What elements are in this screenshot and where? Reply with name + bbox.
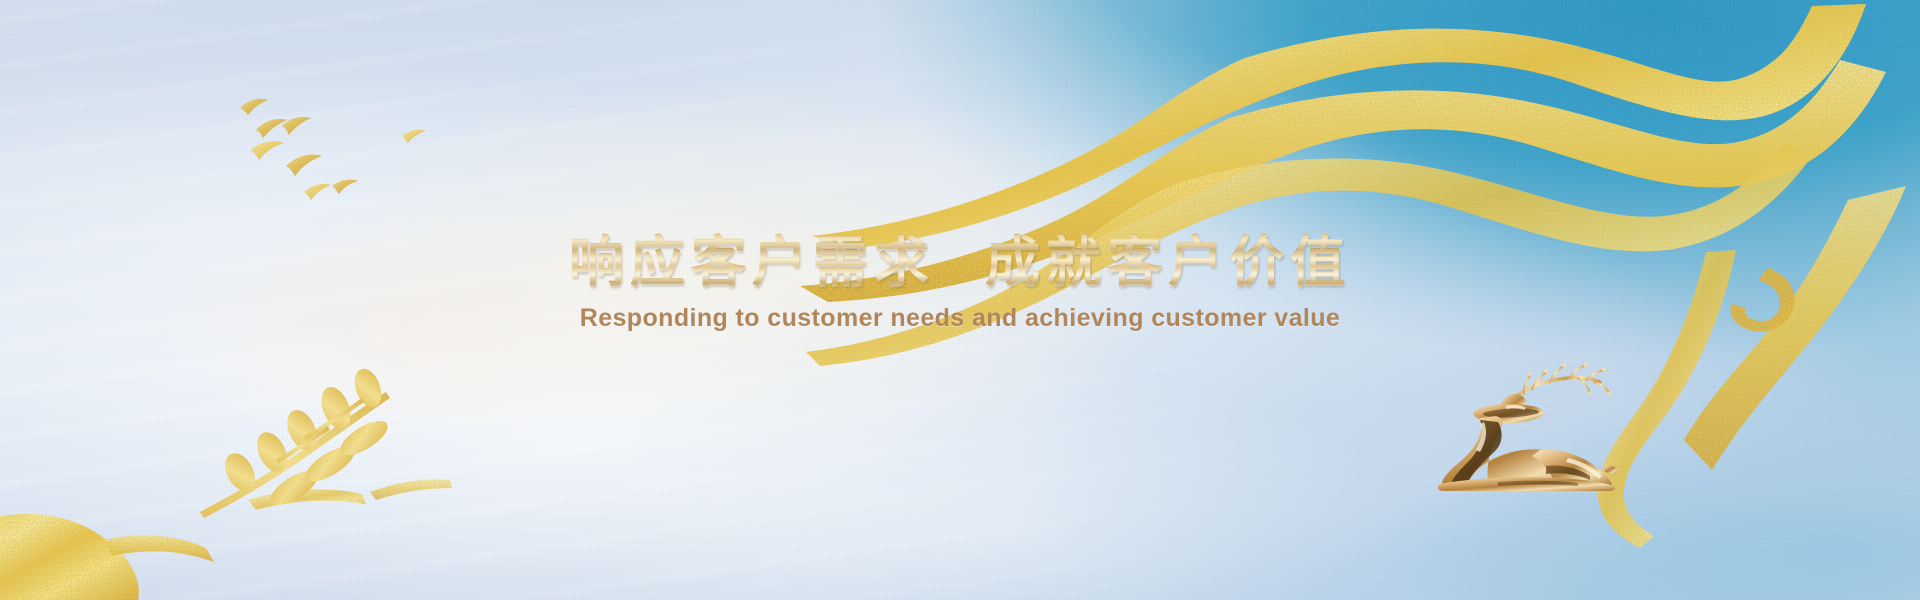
hero-banner: 响应客户需求 成就客户价值 响应客户需求 成就客户价值 Responding t… [0, 0, 1920, 600]
page-subtitle: Responding to customer needs and achievi… [0, 304, 1920, 333]
headline-wrapper: 响应客户需求 成就客户价值 响应客户需求 成就客户价值 [569, 232, 1351, 291]
banner-text-block: 响应客户需求 成就客户价值 响应客户需求 成就客户价值 Responding t… [0, 232, 1920, 333]
gold-leaf-branch-icon [196, 368, 406, 518]
page-title: 响应客户需求 成就客户价值 [569, 232, 1351, 291]
flying-birds-icon [238, 88, 428, 228]
gold-deer-sculpture-icon [1428, 362, 1618, 492]
